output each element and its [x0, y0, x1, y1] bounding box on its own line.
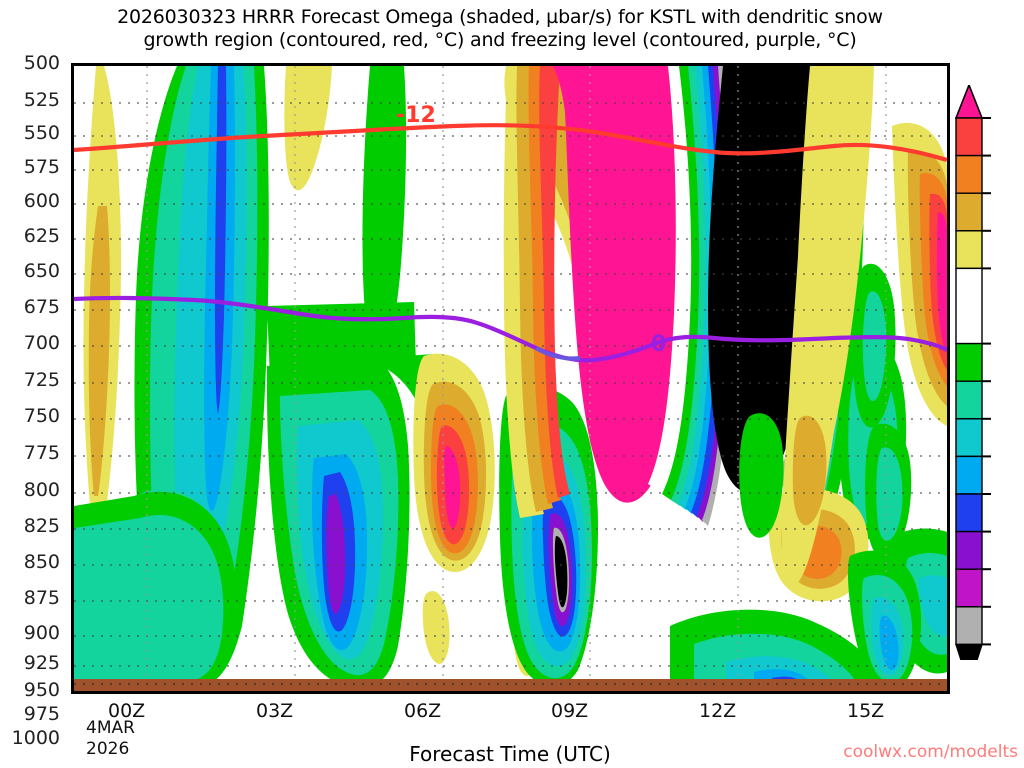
credit-watermark: coolwx.com/modelts — [843, 742, 1018, 762]
y-tick-650: 650 — [0, 260, 60, 282]
y-tick-975: 975 — [0, 703, 60, 725]
y-tick-625: 625 — [0, 225, 60, 247]
y-tick-850: 850 — [0, 551, 60, 573]
y-tick-775: 775 — [0, 442, 60, 464]
date-stamp-year: 2026 — [86, 739, 135, 760]
y-tick-825: 825 — [0, 515, 60, 537]
chart-page: 2026030323 HRRR Forecast Omega (shaded, … — [0, 0, 1024, 768]
plot-area: -12 0 — [71, 63, 950, 694]
colorbar: 20 16 12 8 4 −4 −8 −12 −16 −20 −24 −28 −… — [955, 85, 980, 645]
x-axis-title: Forecast Time (UTC) — [240, 742, 780, 766]
page-title: 2026030323 HRRR Forecast Omega (shaded, … — [0, 6, 1000, 52]
x-tick-12z: 12Z — [699, 700, 736, 722]
x-tick-06z: 06Z — [404, 700, 441, 722]
dendritic-contour-label: -12 — [396, 103, 436, 128]
title-line-2: growth region (contoured, red, °C) and f… — [0, 29, 1000, 52]
x-tick-03z: 03Z — [256, 700, 293, 722]
title-line-1: 2026030323 HRRR Forecast Omega (shaded, … — [0, 6, 1000, 29]
colorbar-extend-bottom — [956, 644, 982, 660]
y-tick-950: 950 — [0, 679, 60, 701]
y-tick-1000: 1000 — [0, 727, 60, 749]
y-tick-700: 700 — [0, 332, 60, 354]
omega-contour-field: -12 0 — [74, 66, 947, 691]
y-tick-900: 900 — [0, 622, 60, 644]
date-stamp: 4MAR 2026 — [86, 718, 135, 760]
y-tick-525: 525 — [0, 89, 60, 111]
y-tick-575: 575 — [0, 156, 60, 178]
colorbar-svg — [955, 85, 1024, 660]
x-tick-09z: 09Z — [551, 700, 588, 722]
y-tick-875: 875 — [0, 587, 60, 609]
x-tick-15z: 15Z — [847, 700, 884, 722]
y-tick-500: 500 — [0, 52, 60, 74]
date-stamp-day: 4MAR — [86, 718, 135, 739]
y-tick-750: 750 — [0, 405, 60, 427]
y-tick-550: 550 — [0, 122, 60, 144]
colorbar-extend-top — [956, 85, 982, 118]
ground-bar — [74, 679, 947, 691]
y-tick-725: 725 — [0, 369, 60, 391]
freezing-level-contour-label: 0 — [651, 332, 666, 357]
y-tick-925: 925 — [0, 652, 60, 674]
y-tick-600: 600 — [0, 190, 60, 212]
y-tick-800: 800 — [0, 479, 60, 501]
y-tick-675: 675 — [0, 296, 60, 318]
